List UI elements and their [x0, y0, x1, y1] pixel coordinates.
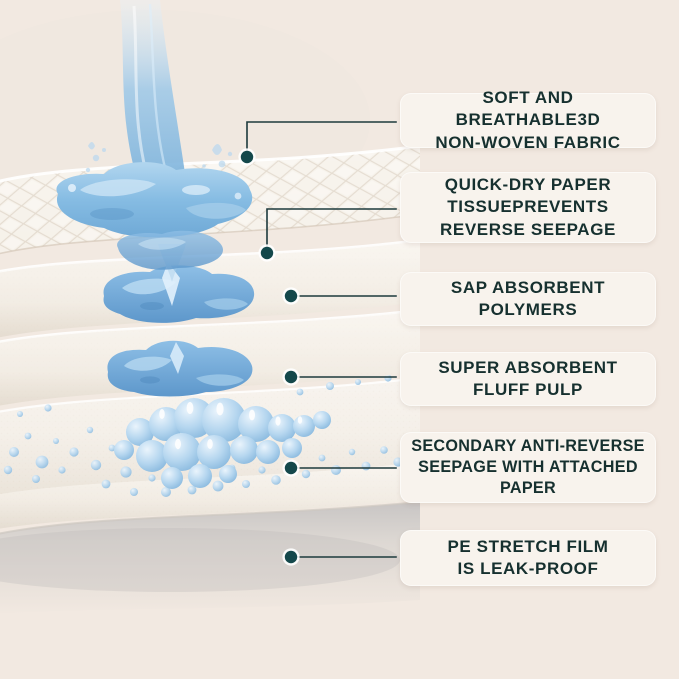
- callout-label-5: SECONDARY ANTI-REVERSE SEEPAGE WITH ATTA…: [411, 436, 645, 499]
- callout-box-3[interactable]: SAP ABSORBENT POLYMERS: [400, 272, 656, 326]
- infographic-canvas: SOFT AND BREATHABLE3D NON-WOVEN FABRIC Q…: [0, 0, 679, 679]
- callout-label-3: SAP ABSORBENT POLYMERS: [451, 277, 605, 321]
- product-cross-section-illustration: [0, 0, 420, 679]
- callout-box-2[interactable]: QUICK-DRY PAPER TISSUEPREVENTS REVERSE S…: [400, 172, 656, 243]
- callout-label-2: QUICK-DRY PAPER TISSUEPREVENTS REVERSE S…: [440, 174, 616, 240]
- callout-box-5[interactable]: SECONDARY ANTI-REVERSE SEEPAGE WITH ATTA…: [400, 432, 656, 503]
- callout-label-1: SOFT AND BREATHABLE3D NON-WOVEN FABRIC: [410, 87, 646, 153]
- callout-box-6[interactable]: PE STRETCH FILM IS LEAK-PROOF: [400, 530, 656, 586]
- callout-label-4: SUPER ABSORBENT FLUFF PULP: [438, 357, 617, 401]
- callout-label-6: PE STRETCH FILM IS LEAK-PROOF: [447, 536, 608, 580]
- callout-box-4[interactable]: SUPER ABSORBENT FLUFF PULP: [400, 352, 656, 406]
- callout-box-1[interactable]: SOFT AND BREATHABLE3D NON-WOVEN FABRIC: [400, 93, 656, 148]
